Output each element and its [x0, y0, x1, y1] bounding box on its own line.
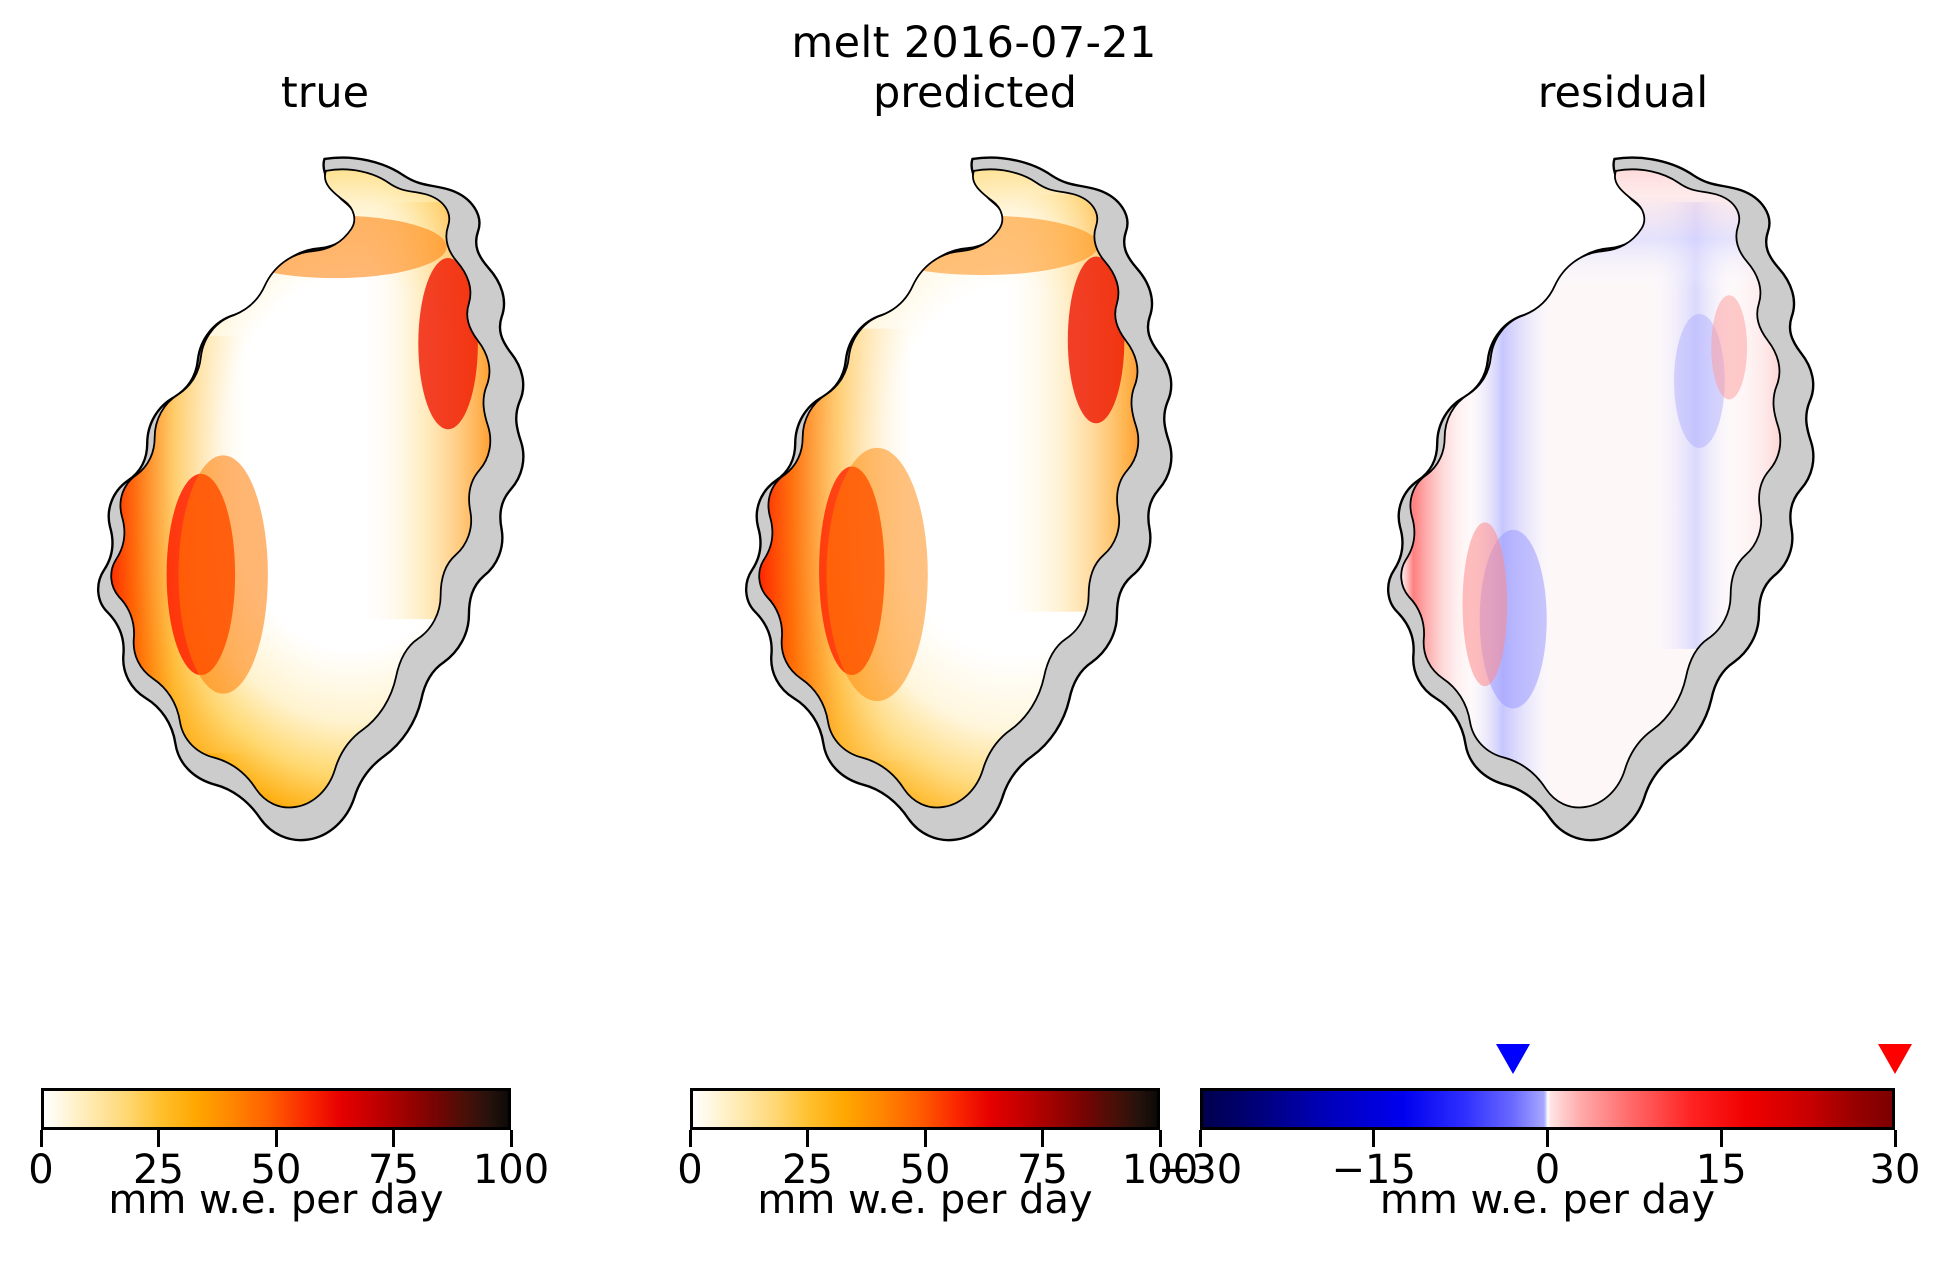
greenland-map-residual [1372, 150, 1890, 850]
melt-field-predicted [730, 150, 1248, 850]
panel-title-residual: residual [1298, 72, 1948, 115]
colorbar-true: 0 25 50 75 100 mm w.e. per day [41, 1088, 511, 1248]
residual-field [1372, 150, 1890, 850]
colorbar-gradient-true [41, 1088, 511, 1130]
colorbar-label-true: mm w.e. per day [41, 1180, 511, 1220]
colorbar-label-residual: mm w.e. per day [1200, 1180, 1895, 1220]
greenland-map-predicted [730, 150, 1248, 850]
panel-title-predicted: predicted [650, 72, 1300, 115]
map-panel-predicted [688, 150, 1248, 850]
residual-min-marker-icon [1496, 1044, 1530, 1074]
map-panel-residual [1330, 150, 1890, 850]
greenland-map-true [82, 150, 600, 850]
colorbar-gradient-predicted [690, 1088, 1160, 1130]
melt-field-true [82, 150, 600, 850]
figure-canvas: melt 2016-07-21 true predicted residual [0, 0, 1948, 1280]
colorbar-gradient-residual [1200, 1088, 1895, 1130]
colorbar-label-predicted: mm w.e. per day [690, 1180, 1160, 1220]
colorbar-residual: −30 −15 0 15 30 mm w.e. per day [1200, 1088, 1895, 1248]
residual-max-marker-icon [1878, 1044, 1912, 1074]
panel-title-true: true [0, 72, 650, 115]
figure-suptitle: melt 2016-07-21 [0, 22, 1948, 65]
colorbar-predicted: 0 25 50 75 100 mm w.e. per day [690, 1088, 1160, 1248]
map-panel-true [40, 150, 600, 850]
